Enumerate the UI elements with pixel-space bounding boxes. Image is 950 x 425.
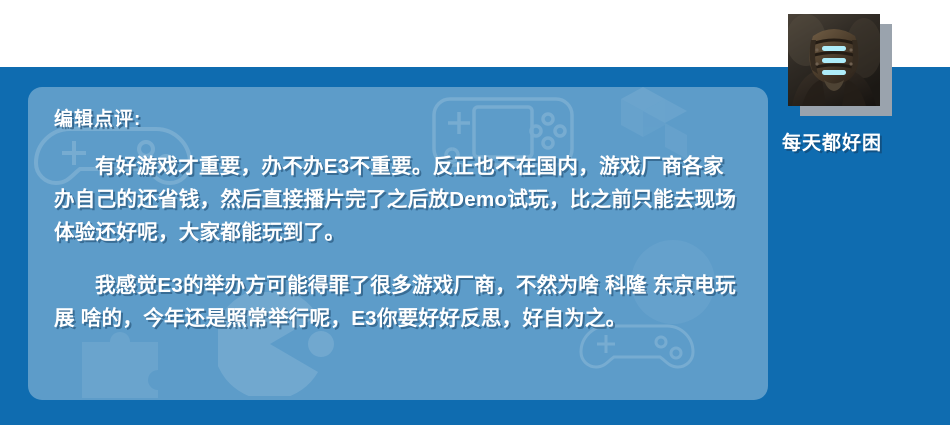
comment-paragraph-1: 有好游戏才重要，办不办E3不重要。反正也不在国内，游戏厂商各家办自己的还省钱，然…: [54, 150, 742, 249]
screenshot-stage: 编辑点评: 有好游戏才重要，办不办E3不重要。反正也不在国内，游戏厂商各家办自己…: [0, 0, 950, 425]
author-name: 每天都好困: [782, 128, 932, 155]
editor-comment-panel: 编辑点评: 有好游戏才重要，办不办E3不重要。反正也不在国内，游戏厂商各家办自己…: [28, 87, 768, 400]
comment-title: 编辑点评:: [54, 109, 742, 132]
avatar-image[interactable]: [788, 14, 880, 106]
comment-paragraph-2: 我感觉E3的举办方可能得罪了很多游戏厂商，不然为啥 科隆 东京电玩展 啥的，今年…: [54, 269, 742, 335]
avatar[interactable]: [788, 14, 884, 116]
comment-text-container: 编辑点评: 有好游戏才重要，办不办E3不重要。反正也不在国内，游戏厂商各家办自己…: [28, 87, 768, 400]
